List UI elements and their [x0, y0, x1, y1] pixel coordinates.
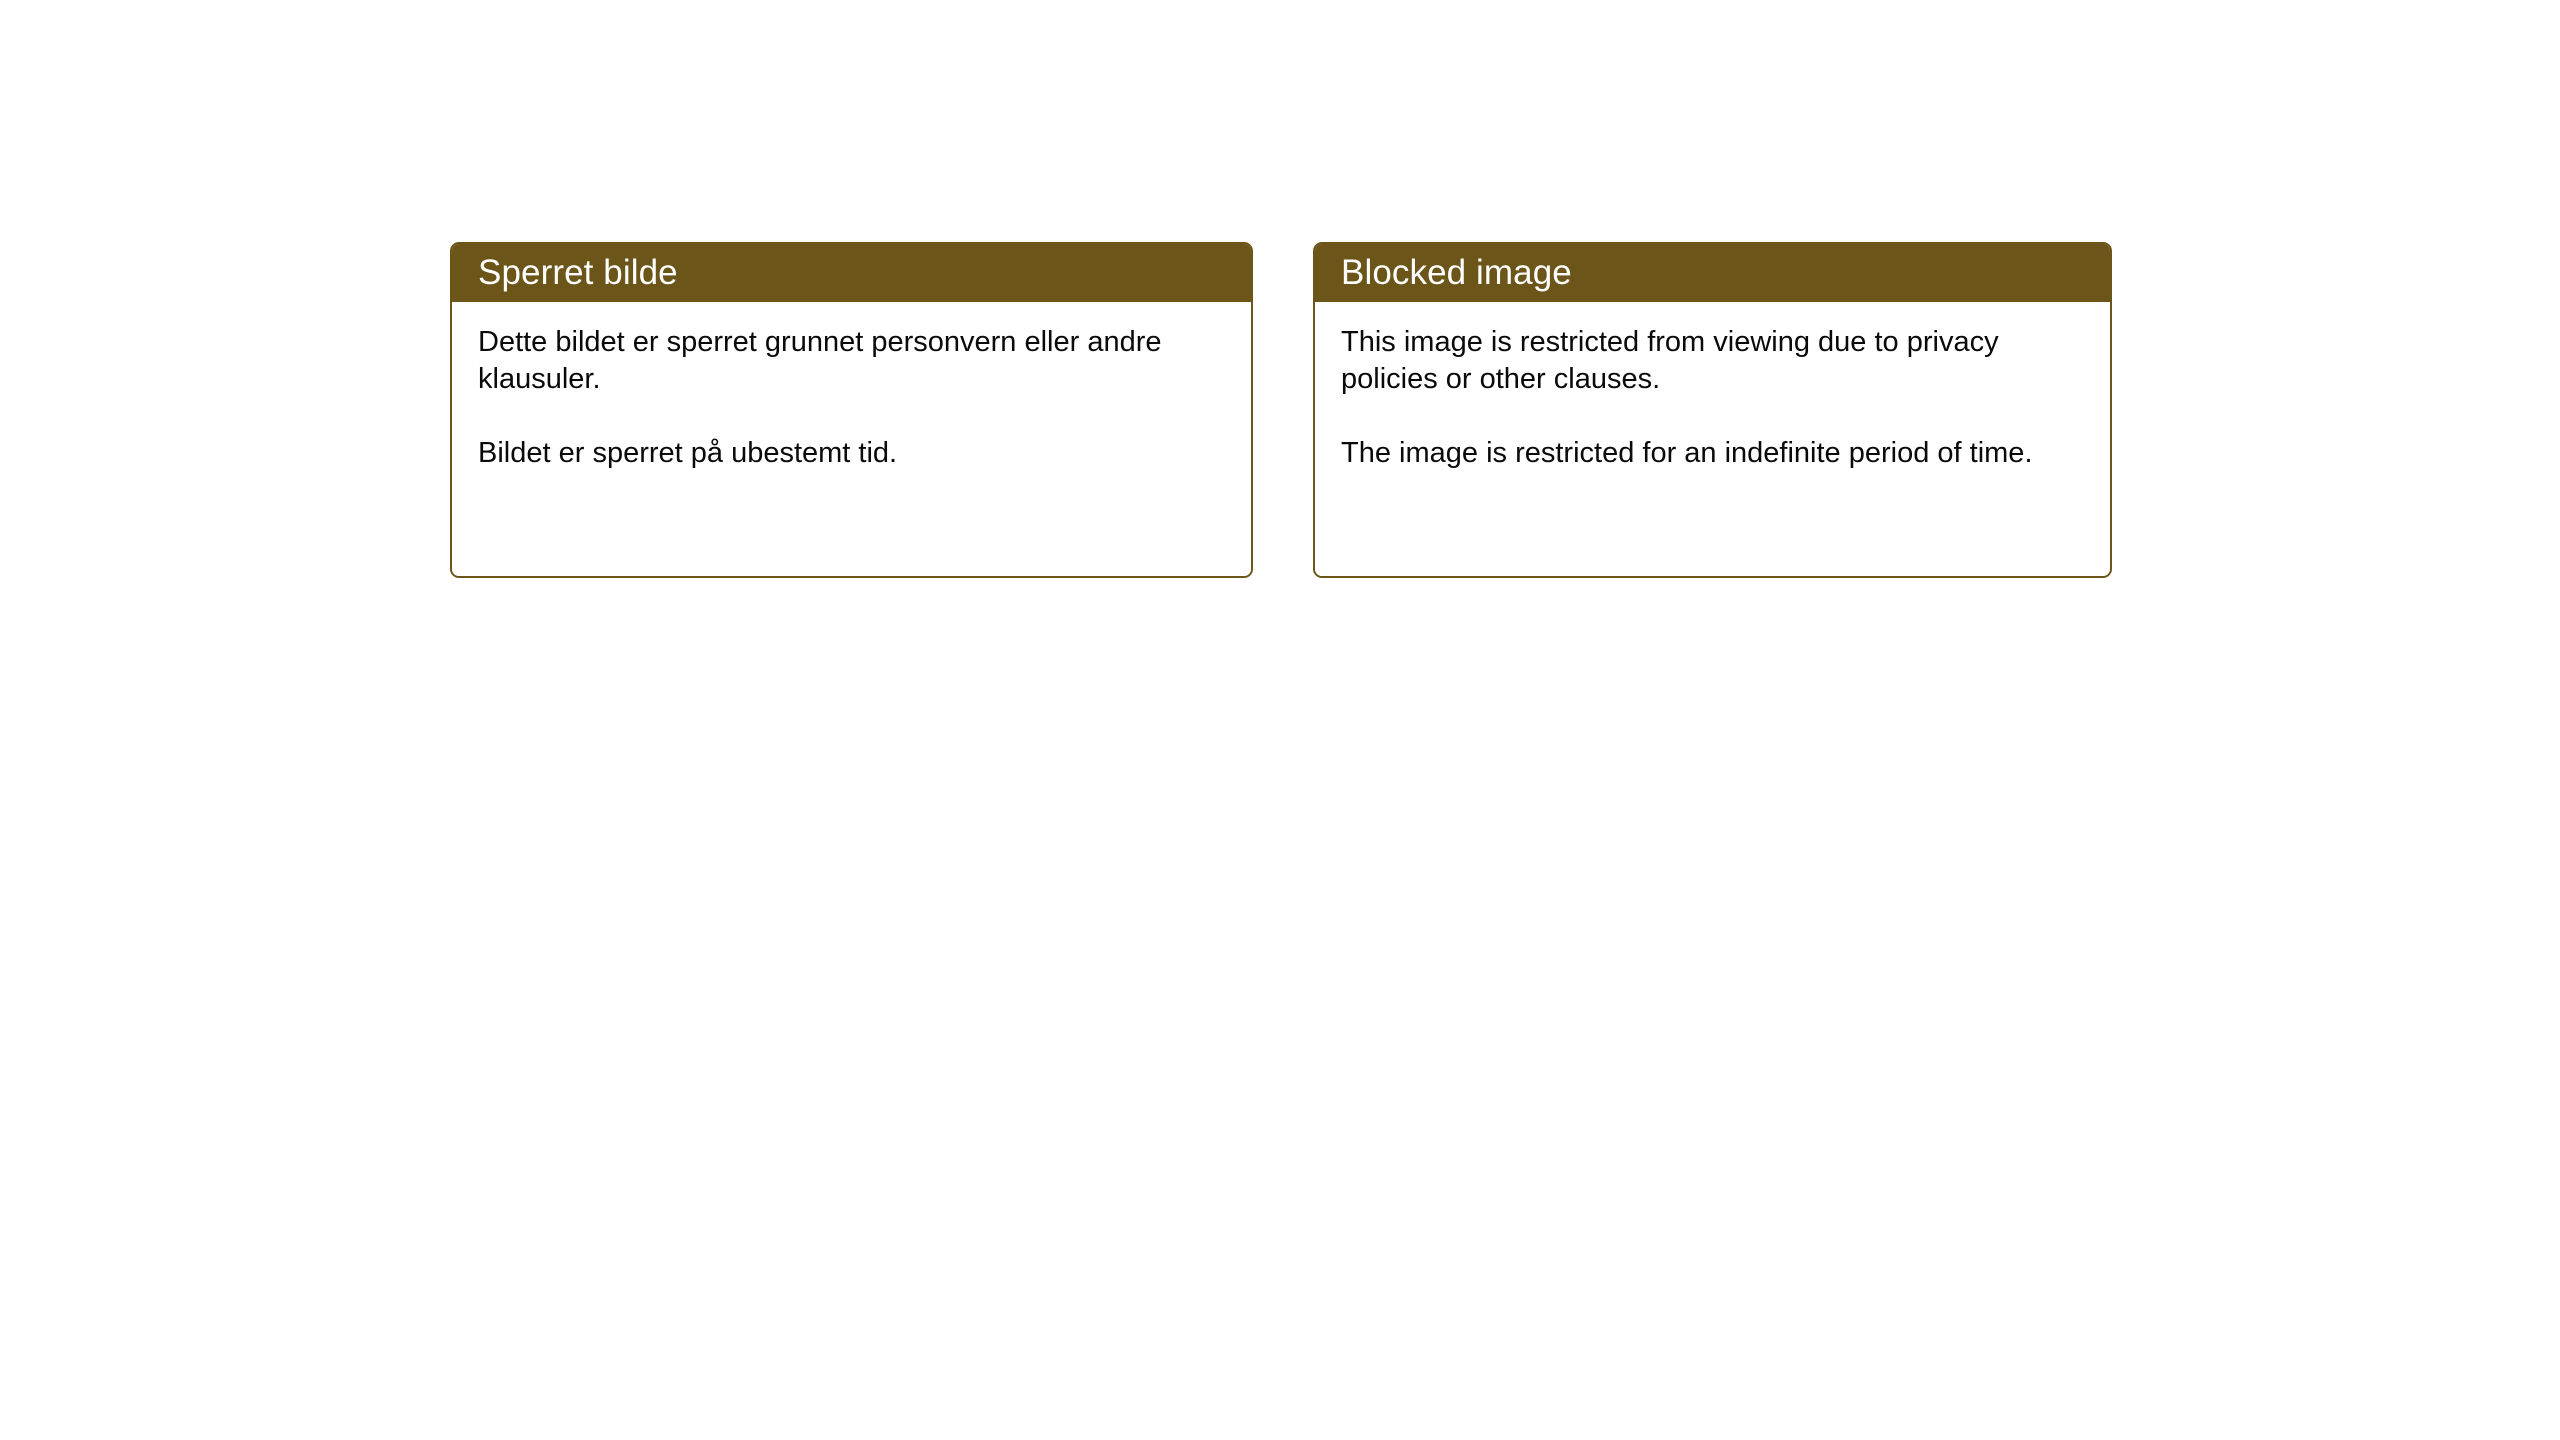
notice-card-header-no: Sperret bilde [452, 244, 1251, 302]
blocked-image-notice-card-no: Sperret bilde Dette bildet er sperret gr… [450, 242, 1253, 578]
blocked-image-notice-card-en: Blocked image This image is restricted f… [1313, 242, 2112, 578]
notice-paragraph-secondary-en: The image is restricted for an indefinit… [1341, 435, 2084, 472]
notice-paragraph-primary-en: This image is restricted from viewing du… [1341, 324, 2084, 398]
notice-card-body-en: This image is restricted from viewing du… [1315, 302, 2110, 576]
notice-title-en: Blocked image [1341, 253, 1572, 293]
notice-paragraph-secondary-no: Bildet er sperret på ubestemt tid. [478, 435, 1225, 472]
notice-title-no: Sperret bilde [478, 253, 678, 293]
notice-paragraph-primary-no: Dette bildet er sperret grunnet personve… [478, 324, 1225, 398]
notice-card-body-no: Dette bildet er sperret grunnet personve… [452, 302, 1251, 576]
page-canvas: Sperret bilde Dette bildet er sperret gr… [0, 0, 2560, 1440]
notice-card-header-en: Blocked image [1315, 244, 2110, 302]
